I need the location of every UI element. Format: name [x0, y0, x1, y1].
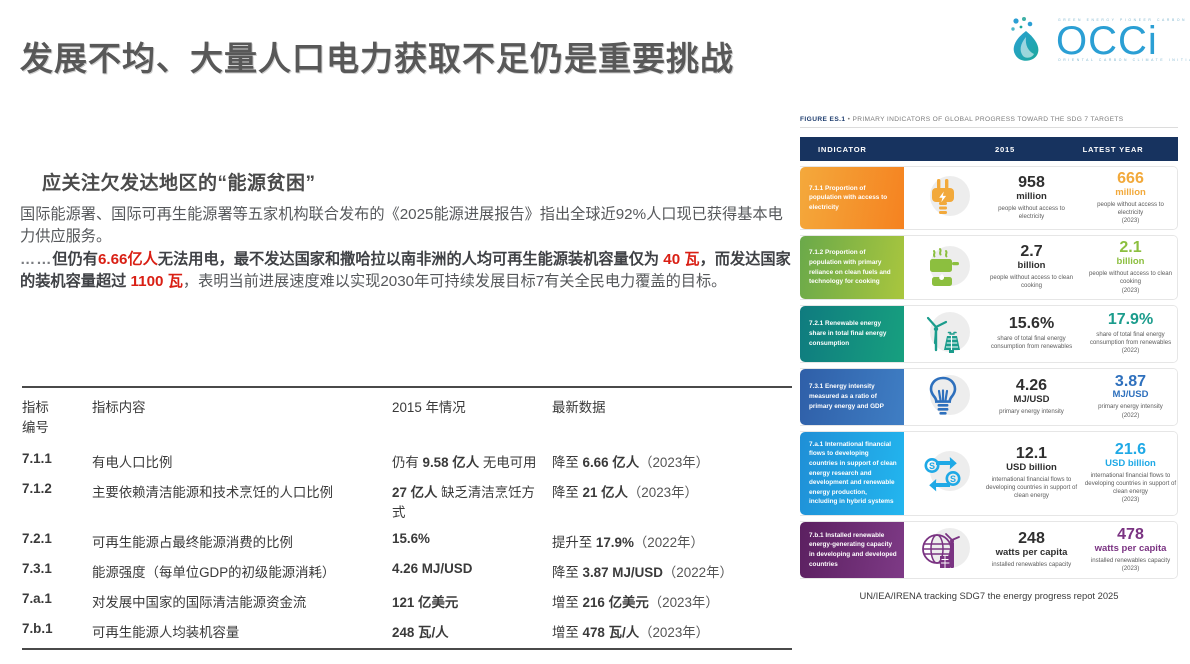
figure-row-label: 7.2.1 Renewable energy share in total fi…	[800, 306, 904, 362]
p2-text-d: ，表明当前进展速度难以实现2030年可持续发展目标7有关全民电力覆盖的目标。	[183, 273, 726, 290]
col-header-code-line1: 指标	[22, 400, 49, 415]
cell-latest-pre: 提升至	[552, 535, 596, 550]
cell-code: 7.2.1	[22, 526, 92, 556]
cell-latest-year: （2022年）	[663, 565, 733, 580]
table-row: 7.1.1有电人口比例仍有 9.58 亿人 无电可用降至 6.66 亿人（202…	[22, 446, 792, 476]
cell-2015: 121 亿美元	[392, 586, 552, 616]
figure-latest-number: 666	[1084, 171, 1177, 188]
figure-latest-desc: share of total final energy consumption …	[1084, 331, 1177, 347]
figure-2015-number: 4.26	[985, 378, 1078, 395]
cell-2015-value: 248 瓦/人	[392, 625, 449, 640]
cell-latest: 增至 478 瓦/人（2023年）	[552, 616, 792, 646]
figure-2015-cell: 2.7billionpeople without access to clean…	[982, 240, 1081, 294]
figure-2015-desc: people without access to electricity	[985, 205, 1078, 221]
figure-row-body: 4.26MJ/USDprimary energy intensity3.87MJ…	[904, 369, 1178, 425]
ellipsis: ……	[20, 251, 52, 268]
cell-2015: 27 亿人 缺乏清洁烹饪方式	[392, 476, 552, 526]
figure-latest-number: 17.9%	[1084, 312, 1177, 329]
figure-2015-number: 12.1	[985, 446, 1078, 463]
figure-2015-number: 15.6%	[985, 316, 1078, 333]
col-header-content: 指标内容	[92, 388, 392, 446]
figure-latest-year: (2023)	[1084, 287, 1177, 295]
figure-row-body: 958millionpeople without access to elect…	[904, 167, 1178, 229]
figure-header-latest: LATEST YEAR	[1060, 145, 1178, 154]
figure-panel: FIGURE ES.1 • PRIMARY INDICATORS OF GLOB…	[800, 116, 1178, 601]
figure-row: 7.3.1 Energy intensity measured as a rat…	[800, 368, 1178, 426]
figure-latest-desc: international financial flows to develop…	[1084, 472, 1177, 497]
cell-latest-value: 216 亿美元	[583, 595, 649, 610]
cell-latest-value: 21 亿人	[583, 485, 628, 500]
logo-micro-top: GREEN ENERGY PIONEER CARBON NEUTRAL NEW …	[1058, 19, 1190, 22]
figure-latest-unit: USD billion	[1084, 459, 1177, 470]
money-flow-icon: SS	[904, 451, 982, 495]
figure-latest-cell: 666millionpeople without access to elect…	[1081, 167, 1178, 229]
cell-content: 能源强度（每单位GDP的初级能源消耗）	[92, 556, 392, 586]
cell-content: 有电人口比例	[92, 446, 392, 476]
cell-latest: 降至 3.87 MJ/USD（2022年）	[552, 556, 792, 586]
cell-2015: 248 瓦/人	[392, 616, 552, 646]
cell-2015-post: 无电可用	[479, 455, 536, 470]
logo-wordmark: OCCiGREEN ENERGY PIONEER CARBON NEUTRAL …	[1056, 21, 1158, 61]
figure-latest-year: (2023)	[1084, 217, 1177, 225]
slide-canvas: OCCiGREEN ENERGY PIONEER CARBON NEUTRAL …	[0, 0, 1190, 664]
p2-highlight-one: 6.66亿人	[98, 251, 158, 268]
page-title: 发展不均、大量人口电力获取不足仍是重要挑战	[20, 32, 734, 80]
figure-latest-desc: installed renewables capacity	[1084, 557, 1177, 565]
figure-row: 7.b.1 Installed renewable energy-generat…	[800, 521, 1178, 579]
figure-row: 7.1.2 Proportion of population with prim…	[800, 235, 1178, 299]
col-header-2015: 2015 年情况	[392, 388, 552, 446]
cell-latest-value: 3.87 MJ/USD	[583, 565, 663, 580]
figure-row-label: 7.1.1 Proportion of population with acce…	[800, 167, 904, 229]
figure-2015-cell: 4.26MJ/USDprimary energy intensity	[982, 374, 1081, 420]
figure-row: 7.2.1 Renewable energy share in total fi…	[800, 305, 1178, 363]
cell-code: 7.1.1	[22, 446, 92, 476]
plug-icon	[904, 176, 982, 220]
figure-latest-unit: million	[1084, 188, 1177, 199]
globe-renewables-icon	[904, 528, 982, 572]
figure-latest-number: 2.1	[1084, 240, 1177, 257]
figure-latest-unit: watts per capita	[1084, 544, 1177, 555]
figure-latest-number: 3.87	[1084, 374, 1177, 391]
col-header-latest: 最新数据	[552, 388, 792, 446]
table-row: 7.2.1可再生能源占最终能源消费的比例15.6%提升至 17.9%（2022年…	[22, 526, 792, 556]
cell-latest-pre: 增至	[552, 595, 583, 610]
figure-2015-desc: share of total final energy consumption …	[985, 335, 1078, 351]
p2-text-a: 但仍有	[52, 251, 98, 268]
figure-2015-unit: MJ/USD	[985, 395, 1078, 406]
cell-latest-pre: 降至	[552, 565, 583, 580]
figure-2015-cell: 12.1USD billioninternational financial f…	[982, 442, 1081, 504]
figure-latest-unit: billion	[1084, 257, 1177, 268]
cell-2015-value: 9.58 亿人	[423, 455, 480, 470]
figure-row: 7.1.1 Proportion of population with acce…	[800, 166, 1178, 230]
figure-latest-number: 478	[1084, 527, 1177, 544]
paragraph-two: ……但仍有6.66亿人无法用电，最不发达国家和撒哈拉以南非洲的人均可再生能源装机…	[20, 249, 792, 292]
cell-latest-value: 6.66 亿人	[583, 455, 640, 470]
cell-content: 可再生能源人均装机容量	[92, 616, 392, 646]
cell-latest-value: 17.9%	[596, 535, 634, 550]
table-row: 7.b.1可再生能源人均装机容量248 瓦/人增至 478 瓦/人（2023年）	[22, 616, 792, 646]
col-header-code: 指标 编号	[22, 388, 92, 446]
svg-text:S: S	[950, 474, 956, 484]
p2-text-b: 无法用电，最不发达国家和撒哈拉以南非洲的人均可再生能源装机容量仅为	[158, 251, 663, 268]
figure-latest-number: 21.6	[1084, 442, 1177, 459]
figure-caption: FIGURE ES.1 • PRIMARY INDICATORS OF GLOB…	[800, 116, 1178, 128]
figure-row-body: 15.6%share of total final energy consump…	[904, 306, 1178, 362]
figure-2015-desc: people without access to clean cooking	[985, 274, 1078, 290]
figure-2015-number: 958	[985, 175, 1078, 192]
figure-2015-unit: USD billion	[985, 463, 1078, 474]
cell-2015-value: 121 亿美元	[392, 595, 458, 610]
figure-latest-cell: 17.9%share of total final energy consump…	[1081, 308, 1178, 359]
section-subheading: 应关注欠发达地区的“能源贫困”	[42, 168, 792, 195]
figure-latest-cell: 478watts per capitainstalled renewables …	[1081, 523, 1178, 577]
figure-caption-text: PRIMARY INDICATORS OF GLOBAL PROGRESS TO…	[852, 116, 1123, 123]
figure-header-bar: INDICATOR 2015 LATEST YEAR	[800, 137, 1178, 161]
figure-latest-year: (2022)	[1084, 347, 1177, 355]
figure-2015-desc: international financial flows to develop…	[985, 476, 1078, 501]
cell-latest-pre: 增至	[552, 625, 583, 640]
cell-latest-pre: 降至	[552, 485, 583, 500]
cell-content: 主要依赖清洁能源和技术烹饪的人口比例	[92, 476, 392, 526]
table-row: 7.3.1能源强度（每单位GDP的初级能源消耗）4.26 MJ/USD降至 3.…	[22, 556, 792, 586]
cell-content: 可再生能源占最终能源消费的比例	[92, 526, 392, 556]
figure-2015-unit: million	[985, 192, 1078, 203]
cell-latest-year: （2023年）	[639, 625, 709, 640]
col-header-code-line2: 编号	[22, 420, 49, 435]
figure-header-indicator: INDICATOR	[800, 145, 950, 154]
cell-latest-value: 478 瓦/人	[583, 625, 640, 640]
figure-2015-unit: billion	[985, 261, 1078, 272]
table-row: 7.1.2主要依赖清洁能源和技术烹饪的人口比例27 亿人 缺乏清洁烹饪方式降至 …	[22, 476, 792, 526]
figure-row-label: 7.b.1 Installed renewable energy-generat…	[800, 522, 904, 578]
figure-2015-desc: installed renewables capacity	[985, 561, 1078, 569]
wind-solar-icon	[904, 312, 982, 356]
cell-2015: 15.6%	[392, 526, 552, 556]
lightbulb-icon	[904, 375, 982, 419]
cell-code: 7.1.2	[22, 476, 92, 526]
figure-2015-desc: primary energy intensity	[985, 408, 1078, 416]
figure-source: UN/IEA/IRENA tracking SDG7 the energy pr…	[800, 590, 1178, 601]
figure-2015-cell: 958millionpeople without access to elect…	[982, 171, 1081, 225]
figure-row-label: 7.3.1 Energy intensity measured as a rat…	[800, 369, 904, 425]
figure-2015-number: 2.7	[985, 244, 1078, 261]
figure-caption-label: FIGURE ES.1	[800, 116, 845, 123]
cell-code: 7.b.1	[22, 616, 92, 646]
figure-latest-year: (2023)	[1084, 496, 1177, 504]
figure-latest-cell: 21.6USD billioninternational financial f…	[1081, 438, 1178, 509]
figure-latest-cell: 3.87MJ/USDprimary energy intensity(2022)	[1081, 370, 1178, 424]
cell-code: 7.a.1	[22, 586, 92, 616]
figure-row: 7.a.1 International financial flows to d…	[800, 431, 1178, 516]
figure-latest-year: (2023)	[1084, 565, 1177, 573]
cell-latest-year: （2023年）	[639, 455, 709, 470]
figure-2015-number: 248	[985, 531, 1078, 548]
cell-latest-year: （2022年）	[634, 535, 704, 550]
figure-latest-desc: people without access to electricity	[1084, 201, 1177, 217]
cell-latest-year: （2023年）	[628, 485, 698, 500]
cell-latest: 降至 6.66 亿人（2023年）	[552, 446, 792, 476]
cell-2015-value: 27 亿人	[392, 485, 437, 500]
cell-latest: 提升至 17.9%（2022年）	[552, 526, 792, 556]
figure-latest-unit: MJ/USD	[1084, 390, 1177, 401]
cell-code: 7.3.1	[22, 556, 92, 586]
left-content: 应关注欠发达地区的“能源贫困” 国际能源署、国际可再生能源署等五家机构联合发布的…	[20, 168, 792, 292]
figure-header-2015: 2015	[950, 145, 1060, 154]
droplet-leaf-icon	[1004, 15, 1050, 67]
occi-logo: OCCiGREEN ENERGY PIONEER CARBON NEUTRAL …	[1004, 10, 1174, 72]
cell-latest-year: （2023年）	[649, 595, 719, 610]
figure-2015-cell: 248watts per capitainstalled renewables …	[982, 527, 1081, 573]
logo-micro-bottom: ORIENTAL CARBON CLIMATE INITIATIVE	[1058, 59, 1190, 62]
cell-content: 对发展中国家的国际清洁能源资金流	[92, 586, 392, 616]
cell-2015-pre: 仍有	[392, 455, 423, 470]
figure-latest-year: (2022)	[1084, 412, 1177, 420]
p2-highlight-two: 40 瓦	[663, 251, 699, 268]
table-row: 7.a.1对发展中国家的国际清洁能源资金流121 亿美元增至 216 亿美元（2…	[22, 586, 792, 616]
figure-row-label: 7.1.2 Proportion of population with prim…	[800, 236, 904, 298]
p2-highlight-three: 1100 瓦	[131, 273, 183, 290]
figure-latest-desc: people without access to clean cooking	[1084, 270, 1177, 286]
figure-row-body: 248watts per capitainstalled renewables …	[904, 522, 1178, 578]
cell-2015: 4.26 MJ/USD	[392, 556, 552, 586]
figure-latest-desc: primary energy intensity	[1084, 403, 1177, 411]
cell-2015-value: 15.6%	[392, 531, 430, 546]
figure-latest-cell: 2.1billionpeople without access to clean…	[1081, 236, 1178, 298]
cooking-pot-icon	[904, 246, 982, 290]
figure-2015-cell: 15.6%share of total final energy consump…	[982, 312, 1081, 355]
cell-2015-value: 4.26 MJ/USD	[392, 561, 472, 576]
figure-row-body: SS12.1USD billioninternational financial…	[904, 432, 1178, 515]
figure-row-body: 2.7billionpeople without access to clean…	[904, 236, 1178, 298]
table-header-row: 指标 编号 指标内容 2015 年情况 最新数据	[22, 388, 792, 446]
paragraph-one: 国际能源署、国际可再生能源署等五家机构联合发布的《2025能源进展报告》指出全球…	[20, 204, 792, 247]
svg-text:S: S	[929, 461, 935, 471]
cell-latest: 增至 216 亿美元（2023年）	[552, 586, 792, 616]
cell-latest: 降至 21 亿人（2023年）	[552, 476, 792, 526]
figure-row-label: 7.a.1 International financial flows to d…	[800, 432, 904, 515]
cell-2015: 仍有 9.58 亿人 无电可用	[392, 446, 552, 476]
table-bottom-rule	[22, 648, 792, 650]
indicator-table: 指标 编号 指标内容 2015 年情况 最新数据 7.1.1有电人口比例仍有 9…	[22, 386, 792, 650]
figure-2015-unit: watts per capita	[985, 548, 1078, 559]
cell-latest-pre: 降至	[552, 455, 583, 470]
